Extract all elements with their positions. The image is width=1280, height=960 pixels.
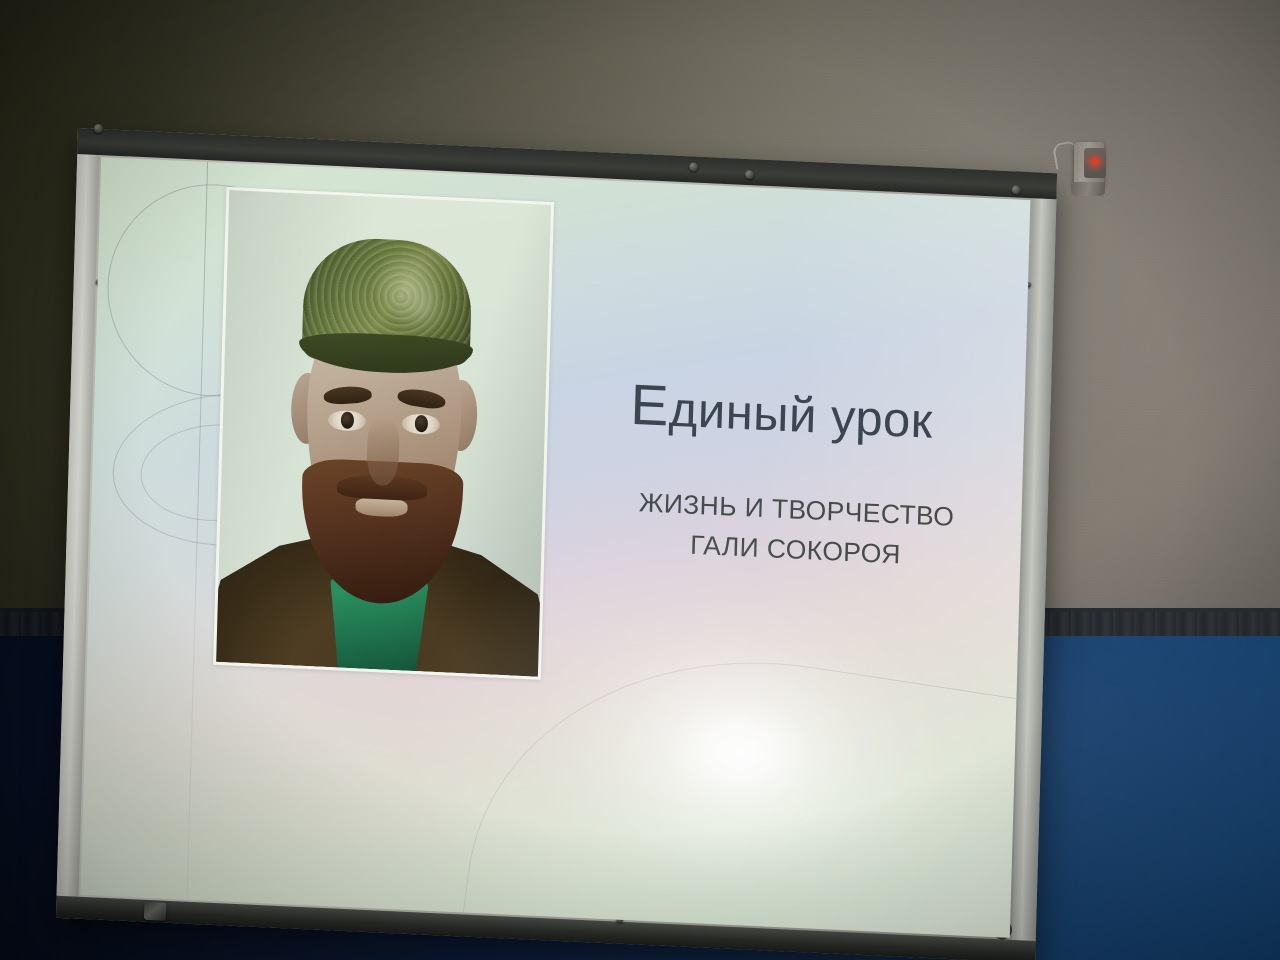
presentation-slide: Единый урок ЖИЗНЬ И ТВОРЧЕСТВО ГАЛИ СОКО… bbox=[81, 157, 1031, 938]
portrait-gali-sokoroy bbox=[216, 190, 551, 677]
sensor-led-indicator bbox=[1091, 158, 1099, 165]
board-frame: Единый урок ЖИЗНЬ И ТВОРЧЕСТВО ГАЛИ СОКО… bbox=[56, 128, 1057, 960]
portrait-frame bbox=[213, 187, 554, 680]
motion-sensor bbox=[1068, 142, 1108, 200]
sensor-mount-base bbox=[1071, 182, 1105, 196]
projection-board: Единый урок ЖИЗНЬ И ТВОРЧЕСТВО ГАЛИ СОКО… bbox=[56, 128, 1057, 960]
slide-title-initial: Е bbox=[630, 373, 670, 439]
portrait-shading bbox=[216, 190, 551, 677]
board-mount-bracket bbox=[144, 902, 166, 921]
classroom-photo-scene: Единый урок ЖИЗНЬ И ТВОРЧЕСТВО ГАЛИ СОКО… bbox=[0, 0, 1280, 960]
sensor-body bbox=[1074, 142, 1104, 186]
